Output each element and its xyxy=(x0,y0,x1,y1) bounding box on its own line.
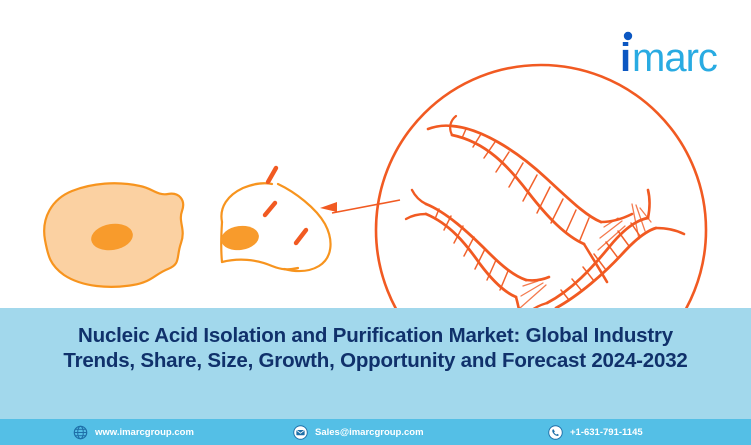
contact-phone-label: +1-631-791-1145 xyxy=(570,427,643,438)
contact-website[interactable]: www.imarcgroup.com xyxy=(73,419,194,445)
phone-icon xyxy=(548,425,563,440)
filled-cell-icon xyxy=(44,183,183,287)
logo-wordmark: marc xyxy=(632,36,717,77)
imarc-logo[interactable]: i marc xyxy=(612,25,737,77)
outlined-cell-nucleus-icon xyxy=(220,223,261,252)
contact-email-label: Sales@imarcgroup.com xyxy=(315,427,424,438)
footer-bar: www.imarcgroup.com Sales@imarcgroup.com … xyxy=(0,419,751,445)
page-title: Nucleic Acid Isolation and Purification … xyxy=(0,323,751,373)
contact-email[interactable]: Sales@imarcgroup.com xyxy=(293,419,424,445)
title-band: Nucleic Acid Isolation and Purification … xyxy=(0,308,751,419)
nucleic-fragments-icon xyxy=(265,168,306,243)
envelope-icon xyxy=(293,425,308,440)
marketing-banner: i marc Nucleic Acid Isolation and Purifi… xyxy=(0,0,751,445)
contact-phone[interactable]: +1-631-791-1145 xyxy=(548,419,643,445)
arrow-pointer-icon xyxy=(320,200,400,213)
globe-icon xyxy=(73,425,88,440)
contact-website-label: www.imarcgroup.com xyxy=(95,427,194,438)
page-title-line-1: Nucleic Acid Isolation and Purification … xyxy=(0,323,751,348)
page-title-line-2: Trends, Share, Size, Growth, Opportunity… xyxy=(0,348,751,373)
logo-initial: i xyxy=(620,36,631,77)
